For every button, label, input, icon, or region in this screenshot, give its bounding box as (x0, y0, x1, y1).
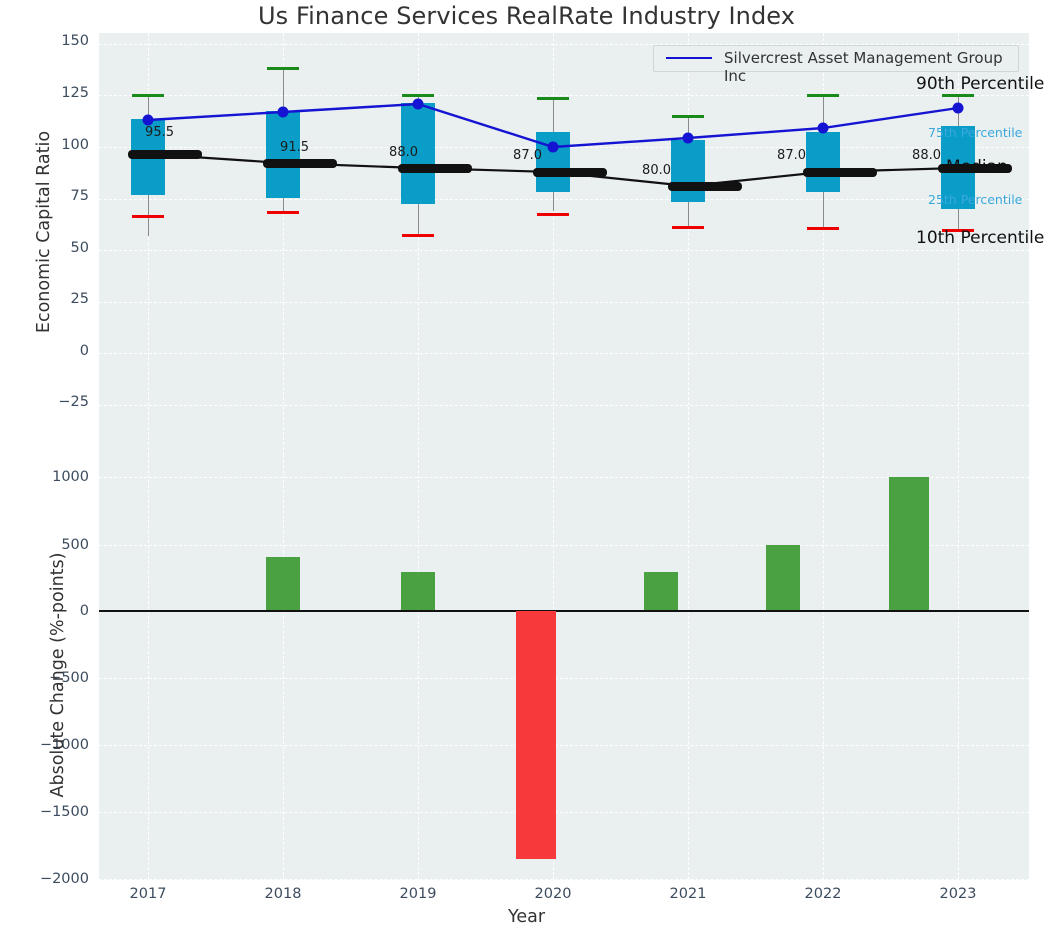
vgrid-b-2019 (418, 455, 419, 880)
vgrid-b-2022 (823, 455, 824, 880)
change-bar-2022 (766, 545, 800, 610)
xtick-2020: 2020 (508, 886, 598, 902)
vgrid-b-2021 (688, 455, 689, 880)
vgrid-b-2017 (148, 455, 149, 880)
gridline-bot-m2000 (99, 879, 1029, 880)
chart-canvas: Us Finance Services RealRate Industry In… (0, 0, 1053, 942)
xtick-2021: 2021 (643, 886, 733, 902)
gridline-bot-m1500 (99, 812, 1029, 813)
ytick-bot-1000: 1000 (15, 469, 89, 485)
change-bar-2023 (889, 477, 929, 610)
change-bar-2019 (401, 572, 435, 610)
xtick-2018: 2018 (238, 886, 328, 902)
change-bar-2021 (644, 572, 678, 610)
xtick-2017: 2017 (103, 886, 193, 902)
xtick-2023: 2023 (913, 886, 1003, 902)
xtick-2019: 2019 (373, 886, 463, 902)
y-axis-title-bottom: Absolute Change (%-points) (48, 495, 68, 855)
gridline-bot-m500 (99, 678, 1029, 679)
change-bar-2020 (516, 611, 556, 859)
vgrid-b-2023 (958, 455, 959, 880)
vgrid-b-2018 (283, 455, 284, 880)
x-axis-title: Year (0, 907, 1053, 927)
xtick-2022: 2022 (778, 886, 868, 902)
change-bar-2018 (266, 557, 300, 610)
ytick-bot-m2000: −2000 (15, 871, 89, 887)
zero-baseline (99, 610, 1029, 612)
gridline-bot-m1000 (99, 745, 1029, 746)
